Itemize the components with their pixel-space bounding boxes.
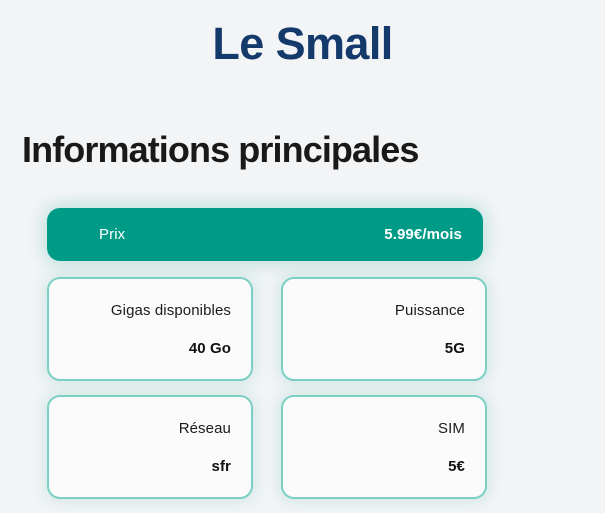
info-cards-grid: Prix 5.99€/mois Gigas disponibles 40 Go …	[0, 0, 605, 513]
info-card-label: Gigas disponibles	[111, 302, 231, 319]
info-card-data-allowance[interactable]: Gigas disponibles 40 Go	[47, 277, 253, 381]
info-card-value: 40 Go	[189, 340, 231, 357]
info-card-label: Réseau	[179, 420, 231, 437]
info-card-value: sfr	[212, 458, 231, 475]
info-card-label: Puissance	[395, 302, 465, 319]
info-card-value: 5G	[445, 340, 465, 357]
price-card[interactable]: Prix 5.99€/mois	[47, 208, 483, 261]
info-card-value: 5€	[448, 458, 465, 475]
info-card-sim-price[interactable]: SIM 5€	[281, 395, 487, 499]
info-card-label: SIM	[438, 420, 465, 437]
plan-details-page: Le Small Informations principales Prix 5…	[0, 0, 605, 513]
info-card-network-power[interactable]: Puissance 5G	[281, 277, 487, 381]
price-card-label: Prix	[99, 226, 125, 243]
info-card-network-operator[interactable]: Réseau sfr	[47, 395, 253, 499]
price-card-value: 5.99€/mois	[384, 226, 462, 243]
